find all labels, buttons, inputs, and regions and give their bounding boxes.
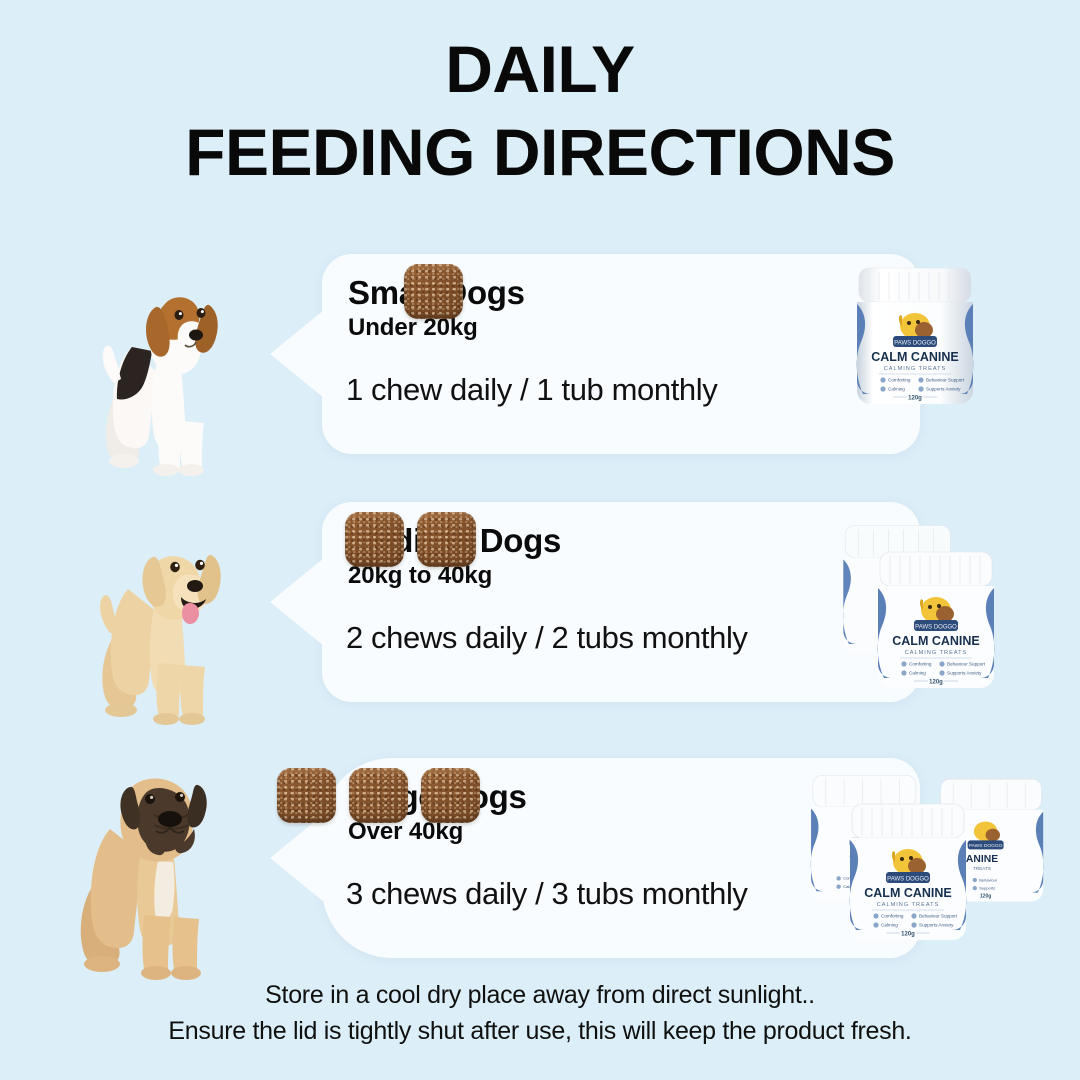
feeding-row-medium: Medium Dogs 20kg to 40kg 2 chews daily /… [0,496,1080,716]
product-tub[interactable]: PAWS DOGGO CALM CANINE CALMING TREATS Co… [845,260,985,412]
svg-text:120g: 120g [901,932,915,938]
storage-line-2: Ensure the lid is tightly shut after use… [0,1014,1080,1050]
product-tub[interactable]: PAWS DOGGO CALM CANINE CALMING TREATS Co… [838,796,978,948]
svg-text:PAWS DOGGO: PAWS DOGGO [915,625,957,631]
svg-text:CALMING TREATS: CALMING TREATS [905,650,968,656]
svg-text:CALM CANINE: CALM CANINE [864,886,952,900]
svg-text:Behaviour Support: Behaviour Support [947,662,986,667]
title-line-daily: DAILY [0,34,1080,105]
card-pointer-arrow [270,814,324,902]
chew-treat-icon [404,264,463,319]
page-title: DAILY FEEDING DIRECTIONS [0,34,1080,189]
card-dose-medium: 2 chews daily / 2 tubs monthly [346,620,748,656]
svg-text:Comforting: Comforting [909,662,932,667]
svg-text:Supports Anxiety: Supports Anxiety [919,923,954,928]
chew-treat-icon [277,768,336,823]
product-tub[interactable]: PAWS DOGGO CALM CANINE CALMING TREATS Co… [866,544,1006,696]
svg-text:Calming: Calming [909,671,926,676]
chew-treat-icon [349,768,408,823]
chew-group-medium [345,512,476,567]
feeding-directions-poster: DAILY FEEDING DIRECTIONS [0,0,1080,1080]
card-dose-large: 3 chews daily / 3 tubs monthly [346,876,748,912]
svg-text:Calming: Calming [881,923,898,928]
svg-text:Supports Anxiety: Supports Anxiety [926,387,961,392]
beagle-dog-photo [78,263,258,478]
svg-text:120g: 120g [980,894,991,900]
svg-text:PAWS DOGGO: PAWS DOGGO [894,341,936,347]
chew-group-large [277,768,480,823]
svg-text:CALMING TREATS: CALMING TREATS [884,366,947,372]
chew-treat-icon [345,512,404,567]
svg-text:Comforting: Comforting [888,378,911,383]
svg-text:CALM CANINE: CALM CANINE [892,634,980,648]
svg-text:Supports Anxiety: Supports Anxiety [947,671,982,676]
title-line-feeding-directions: FEEDING DIRECTIONS [0,117,1080,188]
svg-text:Comforting: Comforting [881,914,904,919]
svg-text:120g: 120g [908,396,922,402]
chew-treat-icon [421,768,480,823]
svg-text:CALMING TREATS: CALMING TREATS [877,902,940,908]
chew-treat-icon [417,512,476,567]
feeding-row-small: Small Dogs Under 20kg 1 chew daily / 1 t… [0,248,1080,468]
svg-text:Behaviour Support: Behaviour Support [926,378,965,383]
bullmastiff-dog-photo [70,757,265,982]
svg-text:120g: 120g [929,680,943,686]
svg-text:Supports: Supports [979,885,995,890]
card-pointer-arrow [270,558,324,646]
storage-instructions: Store in a cool dry place away from dire… [0,978,1080,1049]
svg-text:Behaviour: Behaviour [979,877,997,882]
labrador-dog-photo [78,511,258,726]
card-pointer-arrow [270,310,324,398]
svg-text:Calming: Calming [888,387,905,392]
card-dose-small: 1 chew daily / 1 tub monthly [346,372,717,408]
svg-text:CALM CANINE: CALM CANINE [871,350,959,364]
chew-group-small [404,264,463,319]
storage-line-1: Store in a cool dry place away from dire… [0,978,1080,1014]
feeding-row-large: Large Dogs Over 40kg 3 chews daily / 3 t… [0,752,1080,972]
svg-text:PAWS DOGGO: PAWS DOGGO [887,877,929,883]
svg-text:Behaviour Support: Behaviour Support [919,914,958,919]
